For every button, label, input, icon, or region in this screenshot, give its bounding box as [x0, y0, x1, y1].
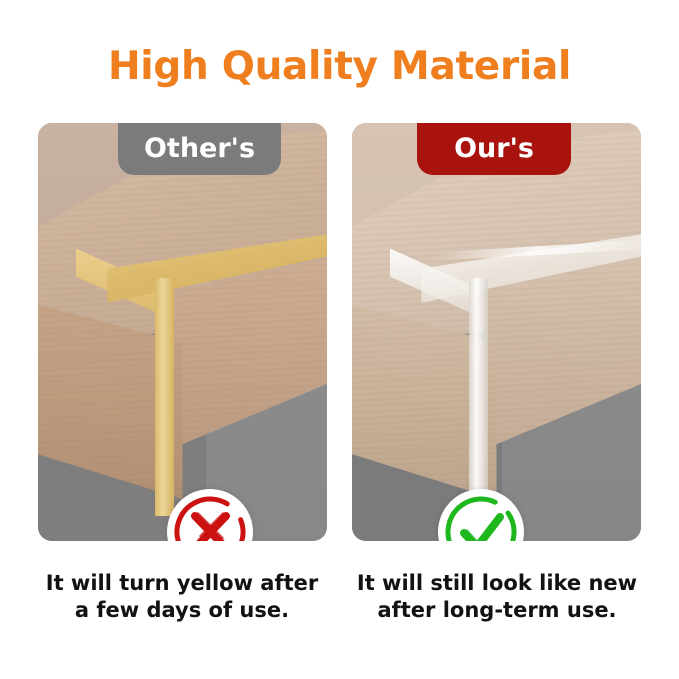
caption-other-line2: a few days of use.: [32, 597, 332, 624]
comparison-panel-ours: Our's: [352, 123, 641, 541]
caption-ours-line2: after long-term use.: [347, 597, 647, 624]
check-mark-icon: [438, 489, 524, 541]
badge-other: Other's: [118, 123, 281, 175]
cross-mark-icon: [167, 489, 253, 541]
badge-ours: Our's: [417, 123, 571, 175]
product-image-other: [38, 123, 327, 541]
caption-other: It will turn yellow after a few days of …: [32, 570, 332, 624]
page-title: High Quality Material: [0, 44, 679, 89]
caption-other-line1: It will turn yellow after: [46, 571, 319, 595]
caption-ours: It will still look like new after long-t…: [347, 570, 647, 624]
edge-guard-corner-strip: [469, 278, 488, 516]
product-image-ours: [352, 123, 641, 541]
edge-guard-corner-strip: [155, 278, 174, 516]
comparison-panel-other: Other's: [38, 123, 327, 541]
caption-ours-line1: It will still look like new: [357, 571, 637, 595]
